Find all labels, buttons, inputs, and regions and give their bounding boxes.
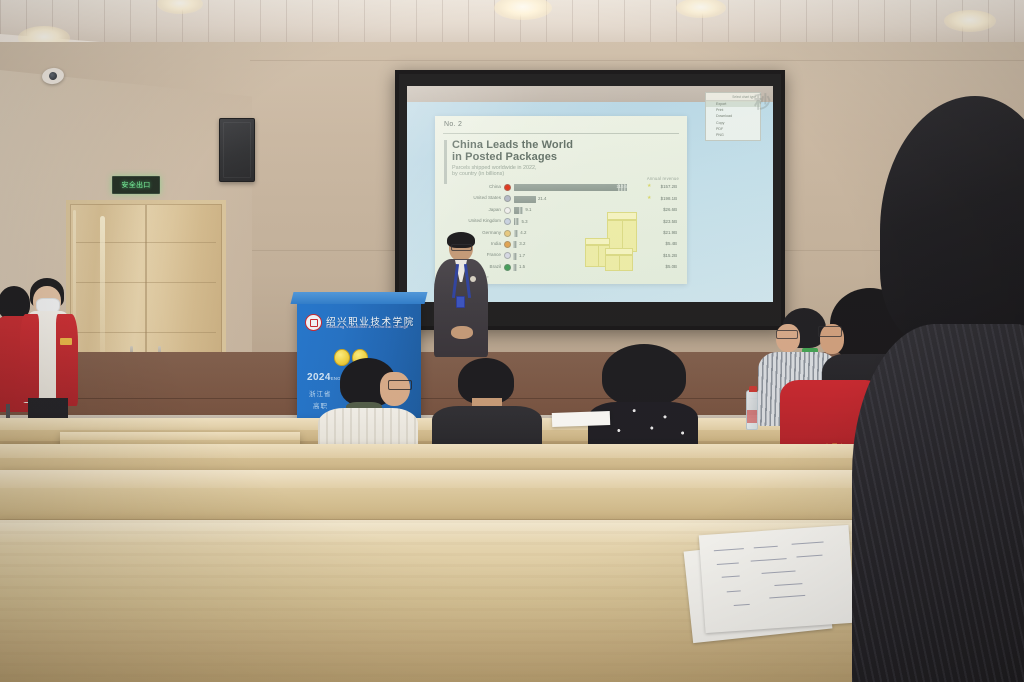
bar-hatch-cap [513,241,517,248]
annual-revenue-value: $21.9B [663,230,677,235]
bench-left-upper-top [60,432,300,440]
star-icon: ★ [647,196,652,201]
ceiling-plank [650,0,651,46]
slide-subtitle: Parcels shipped worldwide in 2022, by co… [452,165,602,178]
slide-accent-bar [444,140,447,184]
ceiling-plank [884,0,885,46]
bar-value-label: 1.5 [519,264,525,269]
wall-seam-1 [250,60,1024,61]
bar-track [514,184,627,191]
country-flag-icon [504,230,511,237]
bar-track [514,218,519,225]
bar-track [514,253,517,260]
foreground-person-right [852,96,1024,682]
volunteer-front-vest-right [56,314,78,406]
ceiling-plank [156,0,157,46]
bottle-cap [749,386,757,392]
water-bottle[interactable] [746,390,758,430]
bar-hatch-cap [514,230,518,237]
presenter-glasses [451,244,472,251]
ceiling-plank [728,0,729,46]
annual-revenue-value: $15.2B [663,253,677,258]
bar-country-label: China [443,184,501,189]
bar-country-label: Japan [443,207,501,212]
foreground-knit-texture [852,324,1024,682]
bar-track [514,230,518,237]
desk-papers-middle[interactable] [552,412,610,428]
ceiling-plank [364,0,365,46]
country-flag-icon [504,264,511,271]
note-line-10 [769,595,805,599]
door-rail-2 [76,282,216,283]
lecture-hall-photo: 安全出口 No. 2 China Leads the World in Post… [0,0,1024,682]
bar-value-label: 5.3 [521,219,527,224]
country-flag-icon [504,195,511,202]
bar-chart-row: China110.6★$157.2B [443,182,679,193]
striped-glasses [776,330,798,339]
presenter-hands [451,326,473,339]
bar-value-label: 110.6 [616,184,627,189]
bottle-label [747,410,757,423]
annual-revenue-value: $157.2B [661,184,677,189]
presenter [432,234,490,356]
ceiling-downlight-5 [944,10,996,32]
note-line-3 [792,542,824,545]
handwritten-notes[interactable] [688,530,856,640]
notes-handwriting [709,536,840,623]
college-name-en: Shaoxing Vocational & Technical College [326,325,408,329]
screen-watermark: 秒 [754,88,771,113]
slide-dropdown-overlay[interactable]: Select chart type ExportPrintDownloadCop… [705,92,761,141]
polka-hair [602,344,686,406]
note-line-4 [717,562,739,565]
volunteer-front-vest-left [20,314,39,402]
country-flag-icon [504,241,511,248]
ceiling-plank [624,0,625,46]
note-line-5 [751,558,787,562]
bar-value-label: 4.2 [520,230,526,235]
bar-hatch-cap [513,253,517,260]
ceiling-plank [936,0,937,46]
country-flag-icon [504,207,511,214]
note-line-1 [714,548,744,551]
bar-track [514,196,536,203]
ceiling-plank [858,0,859,46]
annual-revenue-value: $26.6B [663,207,677,212]
star-icon: ★ [647,184,652,189]
exit-sign-label: 安全出口 [121,180,150,190]
slide-subtitle-line2: by country (in billions) [452,171,602,177]
bar-value-label: 21.4 [538,196,547,201]
slide-title-line2: in Posted Packages [452,151,632,163]
ceiling-plank [104,0,105,46]
bar-hatch-cap [513,264,517,271]
bar-hatch-cap [515,218,519,225]
door-rail-1 [76,242,216,243]
bar-track [514,207,523,214]
bar-country-label: United Kingdom [443,218,501,223]
note-line-2 [754,546,778,549]
note-line-7 [722,575,740,577]
bar-chart-row: United States21.4★$198.1B [443,193,679,204]
ceiling-plank [806,0,807,46]
ceiling-plank [312,0,313,46]
sweater-glasses [388,380,412,390]
annual-revenue-value: $23.5B [663,219,677,224]
bar-fill [514,184,627,191]
bar-track [514,241,517,248]
presenter-pin [470,276,476,282]
bar-chart-row: United Kingdom5.3$23.5B [443,216,679,227]
bar-country-label: United States [443,195,501,200]
ceiling-plank [598,0,599,46]
bar-fill [514,196,536,203]
paper-sheet-middle [552,411,610,427]
bar-value-label: 3.2 [519,241,525,246]
presenter-badge [456,296,465,308]
ceiling-plank [754,0,755,46]
door-rail-3 [76,332,216,333]
wall-speaker-left [219,118,255,182]
bar-chart-row: Japan9.1$26.6B [443,205,679,216]
dropdown-item[interactable]: PNG [706,132,760,138]
revenue-column-header: Annual revenue [647,176,679,181]
ceiling-plank [208,0,209,46]
ceiling-plank [338,0,339,46]
ceiling-plank [572,0,573,46]
ceiling-plank [780,0,781,46]
ceiling-plank [1014,0,1015,46]
annual-revenue-value: $5.0B [666,264,677,269]
lectern-top-surface [291,292,428,304]
volunteer-vest-emblem [60,338,72,345]
annual-revenue-value: $5.4B [666,241,677,246]
bar-value-label: 1.7 [519,253,525,258]
ceiling-plank [832,0,833,46]
annual-revenue-value: $198.1B [661,196,677,201]
foreground-hair [880,96,1024,346]
ceiling-plank [130,0,131,46]
ceiling-plank [442,0,443,46]
note-line-8 [762,571,796,574]
note-line-12 [734,604,750,606]
dropdown-item-list[interactable]: ExportPrintDownloadCopyPDFPNG [706,101,760,138]
college-emblem [305,314,322,331]
ceiling-plank [468,0,469,46]
slide-title: China Leads the World in Posted Packages [452,139,632,164]
right-man-glasses [818,326,842,337]
bar-track [514,264,517,271]
note-line-6 [796,555,822,558]
ceiling-plank [78,0,79,46]
ceiling-plank [260,0,261,46]
country-flag-icon [504,218,511,225]
note-line-9 [774,583,802,586]
slide-divider [443,133,679,134]
ceiling-plank [910,0,911,46]
ceiling-plank [234,0,235,46]
country-flag-icon [504,252,511,259]
note-line-11 [727,590,741,592]
country-flag-icon [504,184,511,191]
bar-hatch-cap [519,207,523,214]
ceiling-plank [416,0,417,46]
ceiling-plank [286,0,287,46]
volunteer-left-front [20,278,82,428]
emergency-exit-sign: 安全出口 [112,176,160,194]
slide-title-line1: China Leads the World [452,139,632,151]
ceiling-plank [390,0,391,46]
slide-number: No. 2 [444,121,462,128]
bar-value-label: 9.1 [525,207,531,212]
